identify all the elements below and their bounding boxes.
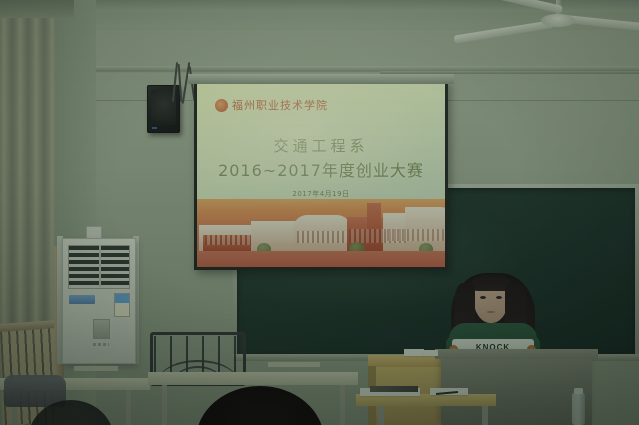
chair-backrest	[268, 362, 320, 367]
projection-screen-case	[188, 74, 454, 84]
water-bottle-cap	[574, 388, 583, 394]
desk-leg	[126, 390, 131, 425]
building-tower	[367, 203, 381, 251]
slide-university-header: 福州职业技术学院	[215, 97, 328, 113]
chair-backrest	[74, 366, 118, 371]
ac-control-buttons[interactable]	[93, 343, 109, 346]
desk-paper	[424, 350, 438, 356]
slide-date: 2017年4月19日	[197, 189, 445, 199]
presenter-mouth	[487, 311, 495, 313]
desk-paper	[404, 349, 424, 356]
campus-foreground-plaza	[197, 251, 445, 267]
desk-leg	[340, 385, 345, 425]
ac-display-window	[93, 319, 110, 339]
desk-leg	[482, 406, 488, 425]
slide-title-line2: 2016~2017年度创业大赛	[197, 157, 445, 181]
building-windows	[297, 231, 347, 243]
slide-title-line1: 交通工程系	[197, 135, 445, 156]
building-windows	[205, 235, 251, 245]
student-desk[interactable]	[148, 372, 358, 385]
desk-leg	[378, 406, 384, 425]
air-conditioner[interactable]	[62, 238, 136, 364]
ceiling-fan-icon	[541, 14, 575, 27]
projection-screen[interactable]: 福州职业技术学院 交通工程系 2016~2017年度创业大赛 2017年4月19…	[194, 80, 448, 270]
classroom-photo-scene: 福州职业技术学院 交通工程系 2016~2017年度创业大赛 2017年4月19…	[0, 0, 639, 425]
ac-vent-divider	[99, 245, 101, 287]
presenter-eye	[480, 296, 486, 299]
desk-booklet	[370, 386, 418, 392]
ac-brand-logo-icon	[69, 295, 95, 304]
university-seal-icon	[215, 99, 228, 112]
building-windows	[387, 229, 445, 241]
desk-leg	[162, 385, 167, 425]
presenter-eye	[496, 296, 502, 299]
slide-university-name: 福州职业技术学院	[232, 97, 328, 113]
curtain-rail	[0, 0, 74, 18]
podium-top-surface	[435, 349, 598, 359]
water-bottle[interactable]	[572, 392, 585, 425]
speaker-led	[152, 127, 157, 129]
slide-campus-photo	[197, 199, 445, 267]
projected-slide: 福州职业技术学院 交通工程系 2016~2017年度创业大赛 2017年4月19…	[197, 83, 445, 267]
ac-energy-label	[114, 293, 130, 317]
